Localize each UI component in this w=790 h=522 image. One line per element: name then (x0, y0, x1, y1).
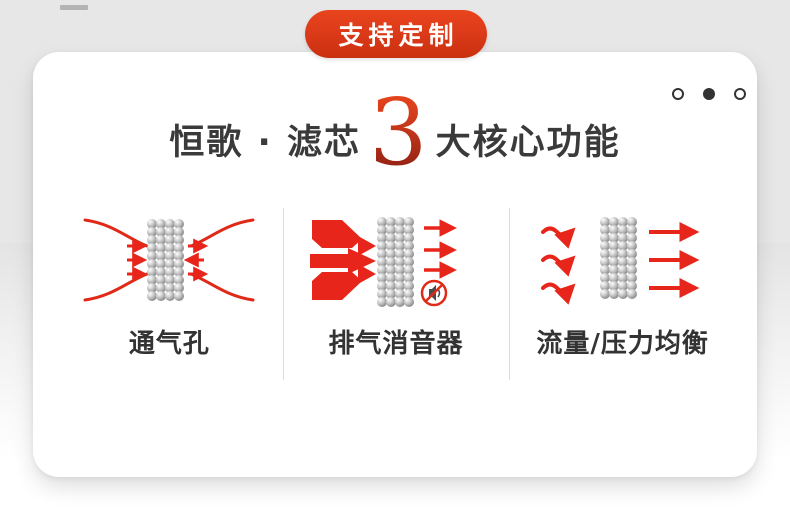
feature-caption-1: 通气孔 (129, 323, 210, 360)
headline-number: 3 (369, 94, 428, 172)
drag-handle[interactable] (60, 5, 88, 10)
headline-prefix: 恒歌 · 滤芯 (169, 114, 361, 165)
badge-label: 支持定制 (333, 16, 458, 52)
icon-wrap-3 (533, 205, 713, 315)
thick-inlet-arrows (310, 220, 376, 300)
sintered-bead-block (377, 217, 414, 307)
feature-list: 通气孔 (56, 205, 736, 380)
wavy-inlet-arrows (543, 229, 571, 292)
sintered-bead-block (600, 217, 637, 299)
mute-icon (422, 281, 446, 305)
sintered-bead-block (147, 219, 184, 301)
filter-block-exhaust-silencer-icon (306, 208, 486, 312)
carousel-dot-3[interactable] (734, 88, 746, 100)
filter-block-flow-balance-icon (533, 208, 713, 312)
feature-caption-2: 排气消音器 (329, 323, 464, 360)
support-customization-badge[interactable]: 支持定制 (305, 10, 487, 58)
headline-suffix: 大核心功能 (436, 114, 621, 165)
carousel-dots[interactable] (672, 88, 746, 100)
feature-item-flow-balance: 流量/压力均衡 (509, 205, 736, 380)
filter-block-curved-flow-icon (79, 208, 259, 312)
carousel-dot-2-active[interactable] (703, 88, 715, 100)
icon-wrap-2 (306, 205, 486, 315)
feature-caption-3: 流量/压力均衡 (536, 323, 709, 360)
feature-item-vent-hole: 通气孔 (56, 205, 283, 380)
icon-wrap-1 (79, 205, 259, 315)
page-title: 恒歌 · 滤芯 3 大核心功能 (33, 100, 757, 178)
carousel-dot-1[interactable] (672, 88, 684, 100)
feature-item-exhaust-silencer: 排气消音器 (283, 205, 510, 380)
